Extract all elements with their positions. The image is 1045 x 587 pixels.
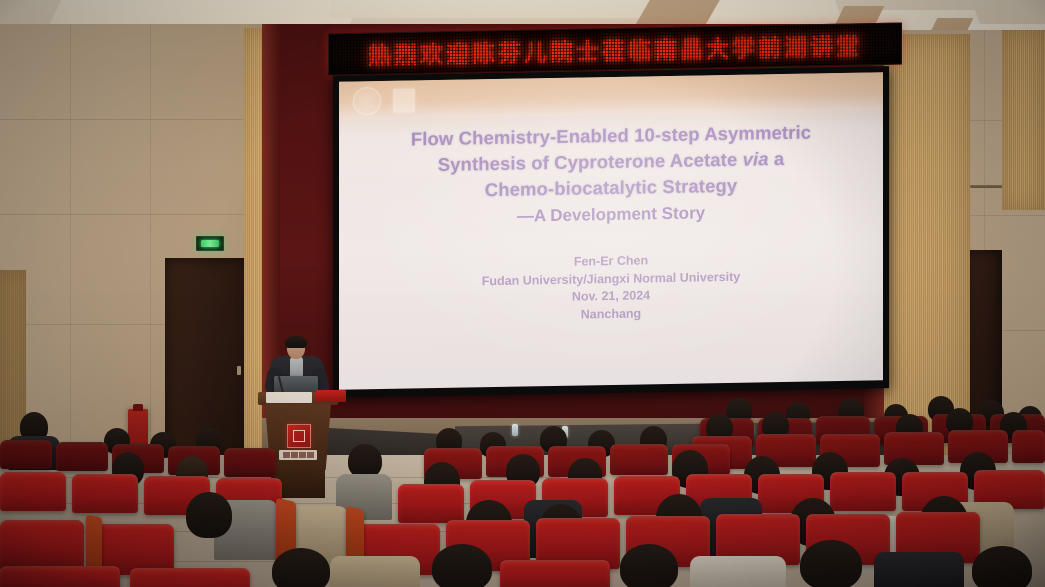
slide-title: Flow Chemistry-Enabled 10-step Asymmetri… xyxy=(411,120,811,205)
projection-screen-frame: Flow Chemistry-Enabled 10-step Asymmetri… xyxy=(333,66,889,398)
lecture-hall-photo: 热烈欢迎陈芬儿院士莅临南昌大学前湖讲堂 Flow Chemistry-Enabl… xyxy=(0,0,1045,587)
slide-logos xyxy=(353,86,415,115)
audience-seat[interactable] xyxy=(130,568,250,587)
slide-title-line-2-b: a xyxy=(769,148,785,169)
audience-seat[interactable] xyxy=(0,440,52,469)
slide-city: Nanchang xyxy=(482,303,740,325)
audience-body xyxy=(874,552,964,587)
audience-seat[interactable] xyxy=(610,444,668,475)
audience-seat[interactable] xyxy=(0,566,120,587)
podium-red-plate xyxy=(316,390,346,402)
audience-seat[interactable] xyxy=(0,472,66,511)
audience-seat[interactable] xyxy=(1012,430,1045,463)
audience-body xyxy=(330,556,420,587)
slide-title-italic-via: via xyxy=(743,148,769,169)
slide-subtitle: —A Development Story xyxy=(517,200,705,228)
water-bottle xyxy=(512,424,518,436)
audience-head xyxy=(272,548,330,587)
audience-seat[interactable] xyxy=(0,520,84,571)
nanchang-university-emblem xyxy=(287,424,311,448)
slide-title-line-2-a: Synthesis of Cyproterone Acetate xyxy=(438,149,743,175)
audience-head xyxy=(432,544,492,587)
wood-slat-panel-right xyxy=(884,34,970,464)
wood-slat-panel-far-right xyxy=(1002,30,1045,210)
audience-seat[interactable] xyxy=(500,560,610,587)
audience-seat[interactable] xyxy=(398,484,464,523)
audience-seat[interactable] xyxy=(72,474,138,513)
podium-lower-plaque xyxy=(279,450,317,460)
exit-sign xyxy=(196,236,224,251)
audience-head xyxy=(620,544,678,587)
audience-head xyxy=(800,540,862,587)
podium-top xyxy=(258,392,338,405)
slide-content: Flow Chemistry-Enabled 10-step Asymmetri… xyxy=(339,118,883,327)
podium-name-plaque xyxy=(266,392,312,403)
slide-header-band xyxy=(339,72,883,119)
audience-body xyxy=(690,556,786,587)
slide-meta: Fen-Er Chen Fudan University/Jiangxi Nor… xyxy=(482,251,740,326)
audience-seat[interactable] xyxy=(830,472,896,511)
audience-seat[interactable] xyxy=(224,448,276,477)
audience-seat[interactable] xyxy=(56,442,108,471)
projection-screen: Flow Chemistry-Enabled 10-step Asymmetri… xyxy=(339,72,883,389)
audience-head xyxy=(972,546,1032,587)
ceiling-light-panel xyxy=(330,0,660,18)
university-seal-logo xyxy=(353,87,381,115)
audience-head xyxy=(186,492,232,538)
audience-head xyxy=(348,444,382,478)
institute-block-logo xyxy=(393,88,415,112)
